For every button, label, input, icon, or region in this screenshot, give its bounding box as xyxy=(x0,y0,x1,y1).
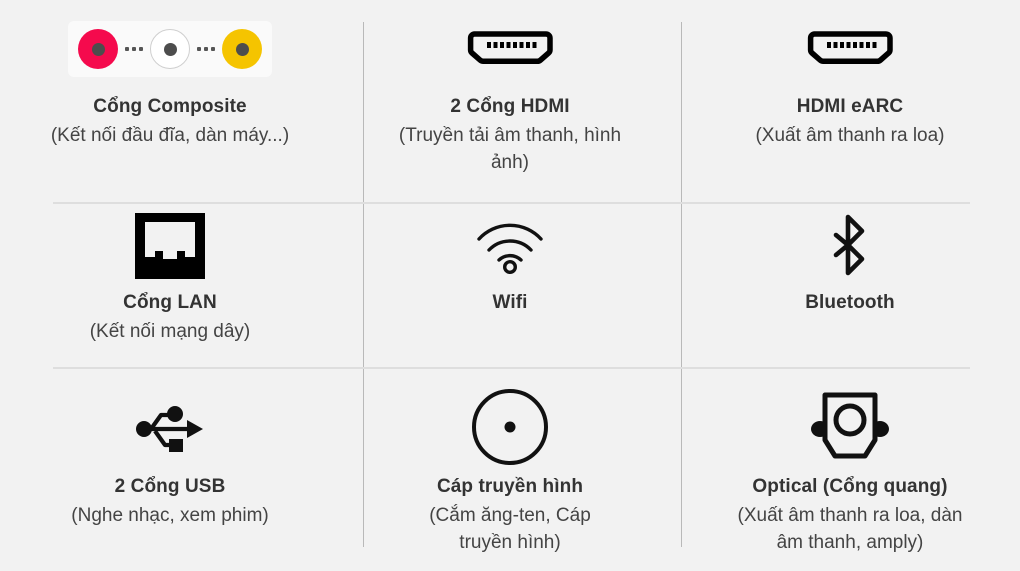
feature-cell-hdmi-earc: HDMI eARC (Xuất âm thanh ra loa) xyxy=(680,0,1020,190)
feature-description: (Xuất âm thanh ra loa, dàn âm thanh, amp… xyxy=(723,503,978,557)
feature-cell-usb: 2 Cổng USB (Nghe nhạc, xem phim) xyxy=(0,368,340,571)
feature-description: (Cắm ăng-ten, Cáp truyền hình) xyxy=(403,503,618,557)
cable-dots-left xyxy=(125,47,143,51)
feature-title: 2 Cổng USB xyxy=(115,476,226,498)
hdmi-earc-port-icon xyxy=(806,6,894,92)
feature-title: Wifi xyxy=(492,292,527,314)
feature-cell-composite: Cổng Composite (Kết nối đầu đĩa, dàn máy… xyxy=(0,0,340,190)
lan-rj45-icon xyxy=(135,208,205,284)
wifi-icon xyxy=(474,208,546,284)
feature-description: (Kết nối mạng dây) xyxy=(90,319,251,346)
composite-rca-icon xyxy=(68,6,272,92)
rca-plug-yellow xyxy=(222,29,262,69)
usb-icon xyxy=(131,382,209,472)
feature-title: Cổng Composite xyxy=(93,96,246,118)
feature-title: Bluetooth xyxy=(805,292,895,314)
optical-toslink-icon xyxy=(807,382,893,472)
feature-cell-wifi: Wifi xyxy=(340,190,680,368)
feature-title: Cổng LAN xyxy=(123,292,217,314)
connectivity-feature-grid: Cổng Composite (Kết nối đầu đĩa, dàn máy… xyxy=(0,0,1020,571)
bluetooth-icon xyxy=(828,208,872,284)
feature-description: (Xuất âm thanh ra loa) xyxy=(755,123,944,150)
feature-cell-lan: Cổng LAN (Kết nối mạng dây) xyxy=(0,190,340,368)
feature-cell-bluetooth: Bluetooth xyxy=(680,190,1020,368)
feature-cell-optical: Optical (Cổng quang) (Xuất âm thanh ra l… xyxy=(680,368,1020,571)
feature-description: (Truyền tải âm thanh, hình ảnh) xyxy=(385,123,635,177)
feature-cell-coaxial: Cáp truyền hình (Cắm ăng-ten, Cáp truyền… xyxy=(340,368,680,571)
hdmi-port-icon xyxy=(466,6,554,92)
feature-title: HDMI eARC xyxy=(797,96,903,118)
feature-title: Optical (Cổng quang) xyxy=(752,476,947,498)
feature-description: (Nghe nhạc, xem phim) xyxy=(71,503,268,530)
feature-cell-hdmi: 2 Cổng HDMI (Truyền tải âm thanh, hình ả… xyxy=(340,0,680,190)
feature-description: (Kết nối đầu đĩa, dàn máy...) xyxy=(51,123,289,150)
cable-dots-right xyxy=(197,47,215,51)
rca-plug-white xyxy=(150,29,190,69)
feature-title: 2 Cổng HDMI xyxy=(450,96,569,118)
coaxial-cable-icon xyxy=(469,382,551,472)
rca-plug-red xyxy=(78,29,118,69)
feature-title: Cáp truyền hình xyxy=(437,476,583,498)
